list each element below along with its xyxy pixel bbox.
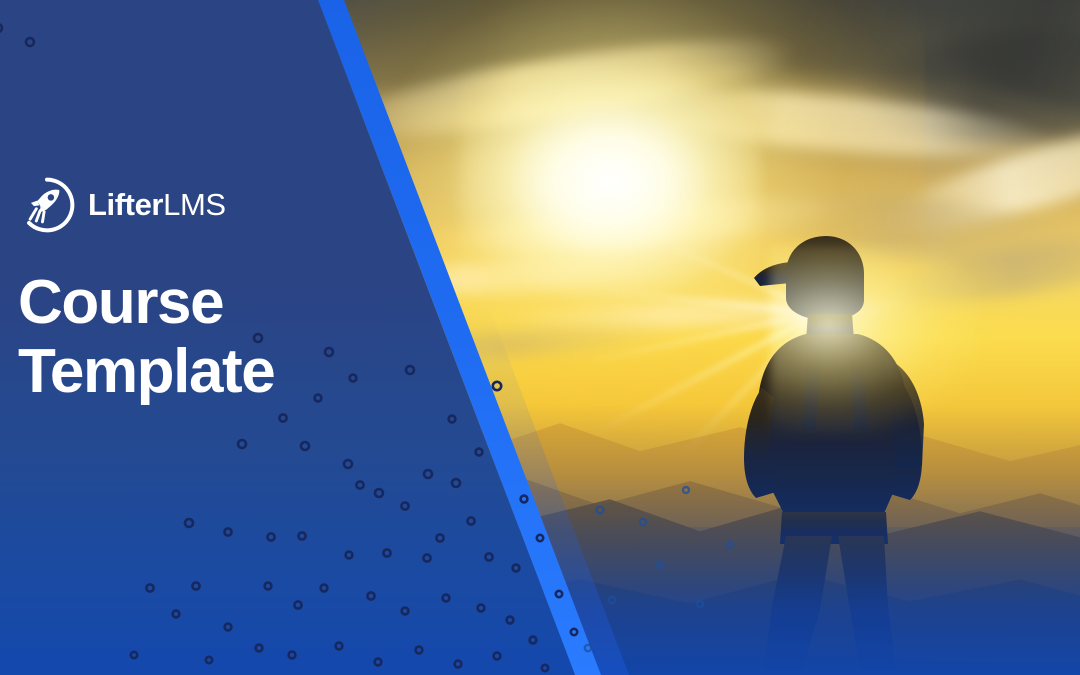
- brand-name-light: LMS: [163, 187, 226, 222]
- rocket-in-circle-icon: [18, 176, 76, 234]
- brand-name-bold: Lifter: [88, 187, 163, 222]
- headline-line-1: Course: [18, 268, 378, 337]
- page-title: Course Template: [18, 268, 378, 407]
- headline-line-2: Template: [18, 337, 378, 406]
- course-template-banner: LifterLMS Course Template: [0, 0, 1080, 675]
- brand-logo[interactable]: LifterLMS: [18, 176, 378, 234]
- banner-content: LifterLMS Course Template: [18, 176, 378, 407]
- brand-name: LifterLMS: [88, 187, 226, 223]
